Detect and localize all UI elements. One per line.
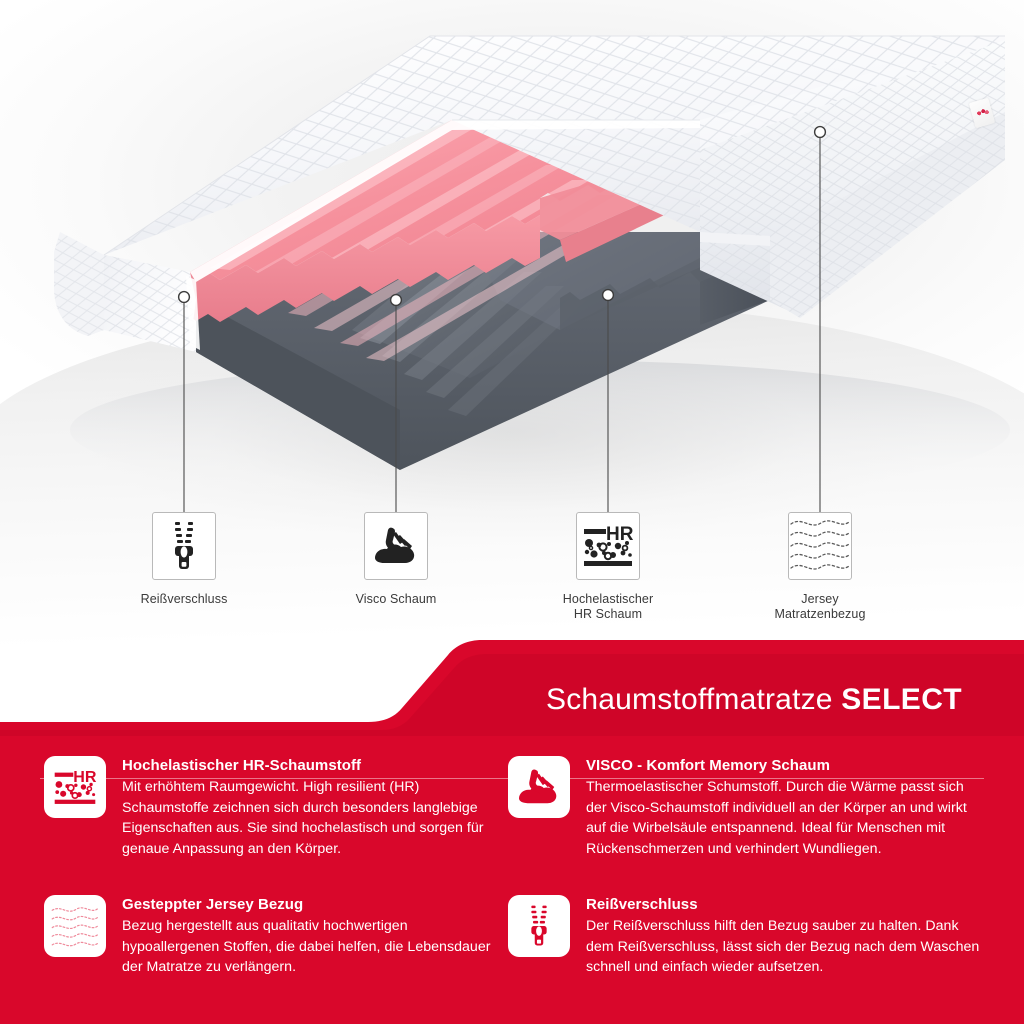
svg-text:HR: HR — [73, 768, 97, 786]
feature-text-hr-foam: Hochelastischer HR-Schaumstoff Mit erhöh… — [122, 756, 499, 859]
callout-label-visco: Visco Schaum — [281, 592, 511, 607]
jersey-waves-icon — [790, 514, 850, 578]
zipper-icon — [522, 903, 556, 949]
svg-text:HR: HR — [606, 524, 634, 545]
callout-label-line1: Jersey — [705, 592, 935, 607]
feature-item-hr-foam: HR Hochelastischer HR-Schaumstoff — [44, 756, 499, 859]
hand-on-foam-icon — [516, 767, 562, 807]
feature-icon-box-visco — [508, 756, 570, 818]
callout-label-line1: Reißverschluss — [69, 592, 299, 607]
feature-body: Mit erhöhtem Raumgewicht. High resilient… — [122, 777, 499, 859]
callout-label-line2: HR Schaum — [493, 607, 723, 622]
callout-row: Reißverschluss Visco Schaum — [0, 0, 1024, 724]
infographic-root: Reißverschluss Visco Schaum — [0, 0, 1024, 1024]
product-scene: Reißverschluss Visco Schaum — [0, 0, 1024, 724]
feature-text-jersey: Gesteppter Jersey Bezug Bezug hergestell… — [122, 895, 499, 978]
feature-item-zipper: Reißverschluss Der Reißverschluss hilft … — [508, 895, 988, 978]
callout-icon-jersey — [788, 512, 852, 580]
banner-title-bold: SELECT — [841, 683, 962, 716]
callout-label-line1: Visco Schaum — [281, 592, 511, 607]
feature-text-zipper: Reißverschluss Der Reißverschluss hilft … — [586, 895, 988, 978]
feature-item-visco: VISCO - Komfort Memory Schaum Thermoelas… — [508, 756, 988, 859]
banner-title-light: Schaumstoffmatratze — [546, 683, 833, 716]
callout-label-jersey: Jersey Matratzenbezug — [705, 592, 935, 622]
feature-list: HR Hochelastischer HR-Schaumstoff — [0, 742, 1024, 1024]
hand-on-foam-icon — [372, 525, 420, 567]
feature-heading: VISCO - Komfort Memory Schaum — [586, 757, 988, 775]
banner-title: Schaumstoffmatratze SELECT — [546, 683, 962, 717]
feature-body: Der Reißverschluss hilft den Bezug saube… — [586, 916, 988, 978]
hr-foam-icon: HR — [582, 523, 634, 569]
callout-icon-zipper — [152, 512, 216, 580]
feature-item-jersey: Gesteppter Jersey Bezug Bezug hergestell… — [44, 895, 499, 978]
feature-heading: Gesteppter Jersey Bezug — [122, 896, 499, 914]
feature-heading: Reißverschluss — [586, 896, 988, 914]
callout-icon-visco — [364, 512, 428, 580]
jersey-waves-icon — [51, 904, 99, 948]
feature-icon-box-jersey — [44, 895, 106, 957]
feature-body: Thermoelastischer Schumstoff. Durch die … — [586, 777, 988, 859]
feature-icon-box-hr-foam: HR — [44, 756, 106, 818]
feature-text-visco: VISCO - Komfort Memory Schaum Thermoelas… — [586, 756, 988, 859]
zipper-icon — [164, 520, 204, 572]
feature-icon-box-zipper — [508, 895, 570, 957]
callout-label-line2: Matratzenbezug — [705, 607, 935, 622]
callout-label-zipper: Reißverschluss — [69, 592, 299, 607]
callout-icon-hrfoam: HR — [576, 512, 640, 580]
callout-label-line1: Hochelastischer — [493, 592, 723, 607]
hr-foam-icon: HR — [53, 767, 97, 807]
callout-label-hrfoam: Hochelastischer HR Schaum — [493, 592, 723, 622]
feature-body: Bezug hergestellt aus qualitativ hochwer… — [122, 916, 499, 978]
feature-heading: Hochelastischer HR-Schaumstoff — [122, 757, 499, 775]
